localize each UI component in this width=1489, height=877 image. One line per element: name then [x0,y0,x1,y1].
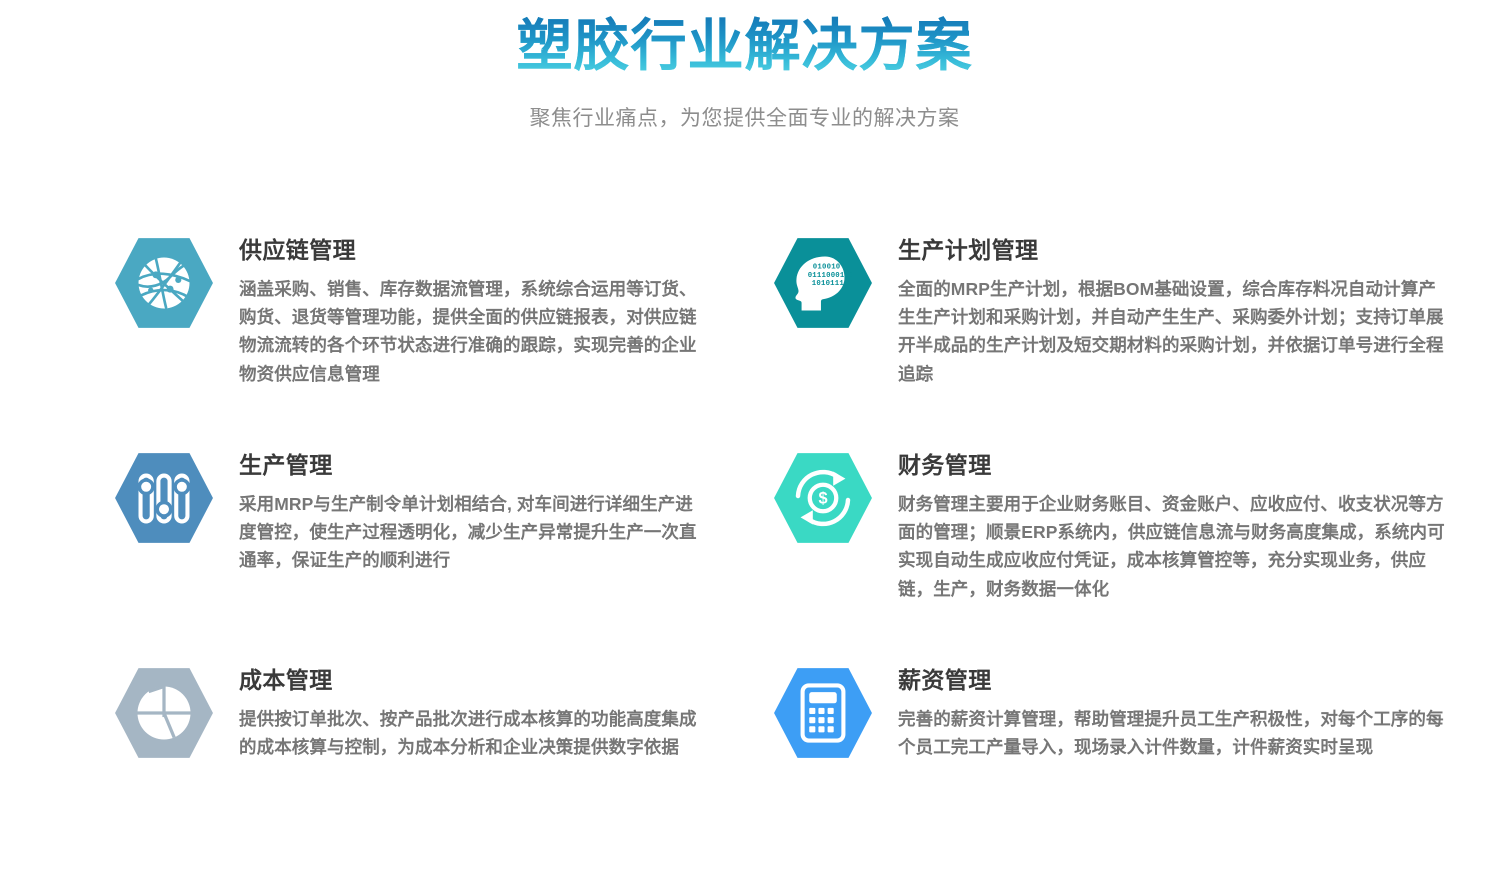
feature-column-left: 供应链管理 涵盖采购、销售、库存数据流管理，系统综合运用等订货、购货、退货等管理… [113,232,763,877]
calculator-icon [772,662,874,764]
feature-icon-supply-chain [113,232,215,334]
feature-card-supply-chain[interactable]: 供应链管理 涵盖采购、销售、库存数据流管理，系统综合运用等订货、购货、退货等管理… [113,232,763,447]
feature-title: 财务管理 [898,452,1472,480]
feature-title: 生产管理 [239,452,763,480]
feature-card-production[interactable]: 生产管理 采用MRP与生产制令单计划相结合, 对车间进行详细生产进度管控，使生产… [113,447,763,662]
page-title-text: 塑胶行业解决方案 [517,12,973,80]
feature-description: 提供按订单批次、按产品批次进行成本核算的功能高度集成的成本核算与控制，为成本分析… [239,705,709,762]
svg-text:1010111: 1010111 [812,280,845,288]
feature-description: 全面的MRP生产计划，根据BOM基础设置，综合库存料况自动计算产生生产计划和采购… [898,275,1450,388]
feature-icon-production [113,447,215,549]
page-title: 塑胶行业解决方案 [0,12,1489,80]
feature-description: 采用MRP与生产制令单计划相结合, 对车间进行详细生产进度管控，使生产过程透明化… [239,490,709,575]
feature-card-payroll[interactable]: 薪资管理 完善的薪资计算管理，帮助管理提升员工生产积极性，对每个工序的每个员工完… [772,662,1472,877]
page-header: 塑胶行业解决方案 聚焦行业痛点，为您提供全面专业的解决方案 [0,0,1489,132]
svg-text:01110001 0: 01110001 0 [808,272,854,280]
globe-network-icon [113,232,215,334]
feature-icon-production-plan: 010010 01110001 0 1010111 [772,232,874,334]
feature-body-production: 生产管理 采用MRP与生产制令单计划相结合, 对车间进行详细生产进度管控，使生产… [239,447,763,575]
feature-column-right: 010010 01110001 0 1010111 生产计划管理 全面的MRP生… [772,232,1472,877]
feature-grid: 供应链管理 涵盖采购、销售、库存数据流管理，系统综合运用等订货、购货、退货等管理… [0,232,1489,877]
feature-icon-finance: $ [772,447,874,549]
column-spacer [763,232,764,877]
pie-chart-icon [113,662,215,764]
feature-body-finance: 财务管理 财务管理主要用于企业财务账目、资金账户、应收应付、收支状况等方面的管理… [898,447,1472,603]
feature-title: 薪资管理 [898,667,1472,695]
feature-description: 财务管理主要用于企业财务账目、资金账户、应收应付、收支状况等方面的管理；顺景ER… [898,490,1450,603]
feature-card-cost[interactable]: 成本管理 提供按订单批次、按产品批次进行成本核算的功能高度集成的成本核算与控制，… [113,662,763,877]
page-subtitle: 聚焦行业痛点，为您提供全面专业的解决方案 [0,102,1489,132]
feature-card-production-plan[interactable]: 010010 01110001 0 1010111 生产计划管理 全面的MRP生… [772,232,1472,447]
feature-description: 完善的薪资计算管理，帮助管理提升员工生产积极性，对每个工序的每个员工完工产量导入… [898,705,1450,762]
money-cycle-icon: $ [772,447,874,549]
feature-title: 供应链管理 [239,237,763,265]
feature-card-finance[interactable]: $ 财务管理 财务管理主要用于企业财务账目、资金账户、应收应付、收支状况等方面的… [772,447,1472,662]
svg-text:010010: 010010 [813,264,841,272]
feature-description: 涵盖采购、销售、库存数据流管理，系统综合运用等订货、购货、退货等管理功能，提供全… [239,275,709,388]
feature-body-payroll: 薪资管理 完善的薪资计算管理，帮助管理提升员工生产积极性，对每个工序的每个员工完… [898,662,1472,761]
svg-text:$: $ [818,490,827,508]
feature-icon-payroll [772,662,874,764]
solution-page: 塑胶行业解决方案 聚焦行业痛点，为您提供全面专业的解决方案 [0,0,1489,836]
feature-title: 生产计划管理 [898,237,1472,265]
head-binary-icon: 010010 01110001 0 1010111 [772,232,874,334]
feature-body-supply-chain: 供应链管理 涵盖采购、销售、库存数据流管理，系统综合运用等订货、购货、退货等管理… [239,232,763,388]
sliders-icon [113,447,215,549]
feature-title: 成本管理 [239,667,763,695]
feature-body-production-plan: 生产计划管理 全面的MRP生产计划，根据BOM基础设置，综合库存料况自动计算产生… [898,232,1472,388]
feature-icon-cost [113,662,215,764]
feature-body-cost: 成本管理 提供按订单批次、按产品批次进行成本核算的功能高度集成的成本核算与控制，… [239,662,763,761]
